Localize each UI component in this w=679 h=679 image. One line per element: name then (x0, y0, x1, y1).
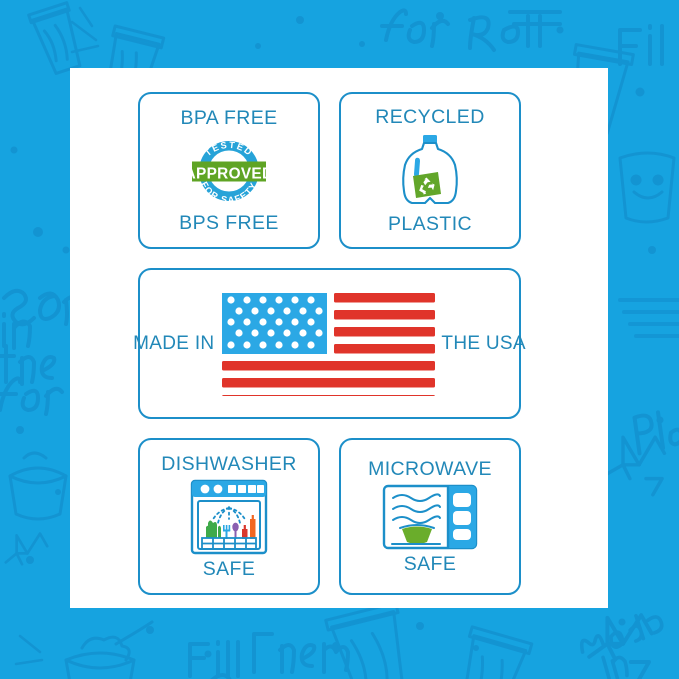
panel-microwave-safe-top-label: MICROWAVE (368, 459, 492, 479)
panel-made-in-usa[interactable]: MADE IN (138, 268, 521, 419)
panel-made-in-usa-left-label: MADE IN (133, 334, 214, 354)
microwave-icon (382, 484, 478, 550)
panel-bpa-free[interactable]: BPA FREE TESTED (138, 92, 320, 249)
panel-row-1: BPA FREE TESTED (138, 92, 540, 249)
panel-recycled-plastic-top-label: RECYCLED (375, 107, 484, 127)
dishwasher-icon (190, 479, 268, 555)
svg-text:APPROVED: APPROVED (185, 165, 274, 182)
feature-panel-grid: BPA FREE TESTED (70, 68, 608, 608)
approved-seal-icon: TESTED FOR SAFETY APPROVED (182, 133, 276, 209)
panel-bpa-free-bottom-label: BPS FREE (179, 213, 279, 233)
panel-made-in-usa-right-label: THE USA (441, 334, 525, 354)
usa-flag-icon (220, 291, 435, 396)
panel-dishwasher-safe-top-label: DISHWASHER (161, 454, 296, 474)
panel-row-2: MADE IN (138, 268, 540, 419)
panel-microwave-safe[interactable]: MICROWAVE (339, 438, 521, 595)
panel-recycled-plastic-bottom-label: PLASTIC (388, 214, 472, 234)
panel-dishwasher-safe-bottom-label: SAFE (203, 559, 256, 579)
panel-dishwasher-safe[interactable]: DISHWASHER (138, 438, 320, 595)
panel-bpa-free-top-label: BPA FREE (180, 108, 277, 128)
panel-microwave-safe-bottom-label: SAFE (404, 554, 457, 574)
panel-row-3: DISHWASHER (138, 438, 540, 595)
recycled-plastic-jug-icon (391, 132, 469, 210)
infographic-root: BPA FREE TESTED (0, 0, 679, 679)
white-content-card: BPA FREE TESTED (70, 68, 608, 608)
panel-recycled-plastic[interactable]: RECYCLED (339, 92, 521, 249)
